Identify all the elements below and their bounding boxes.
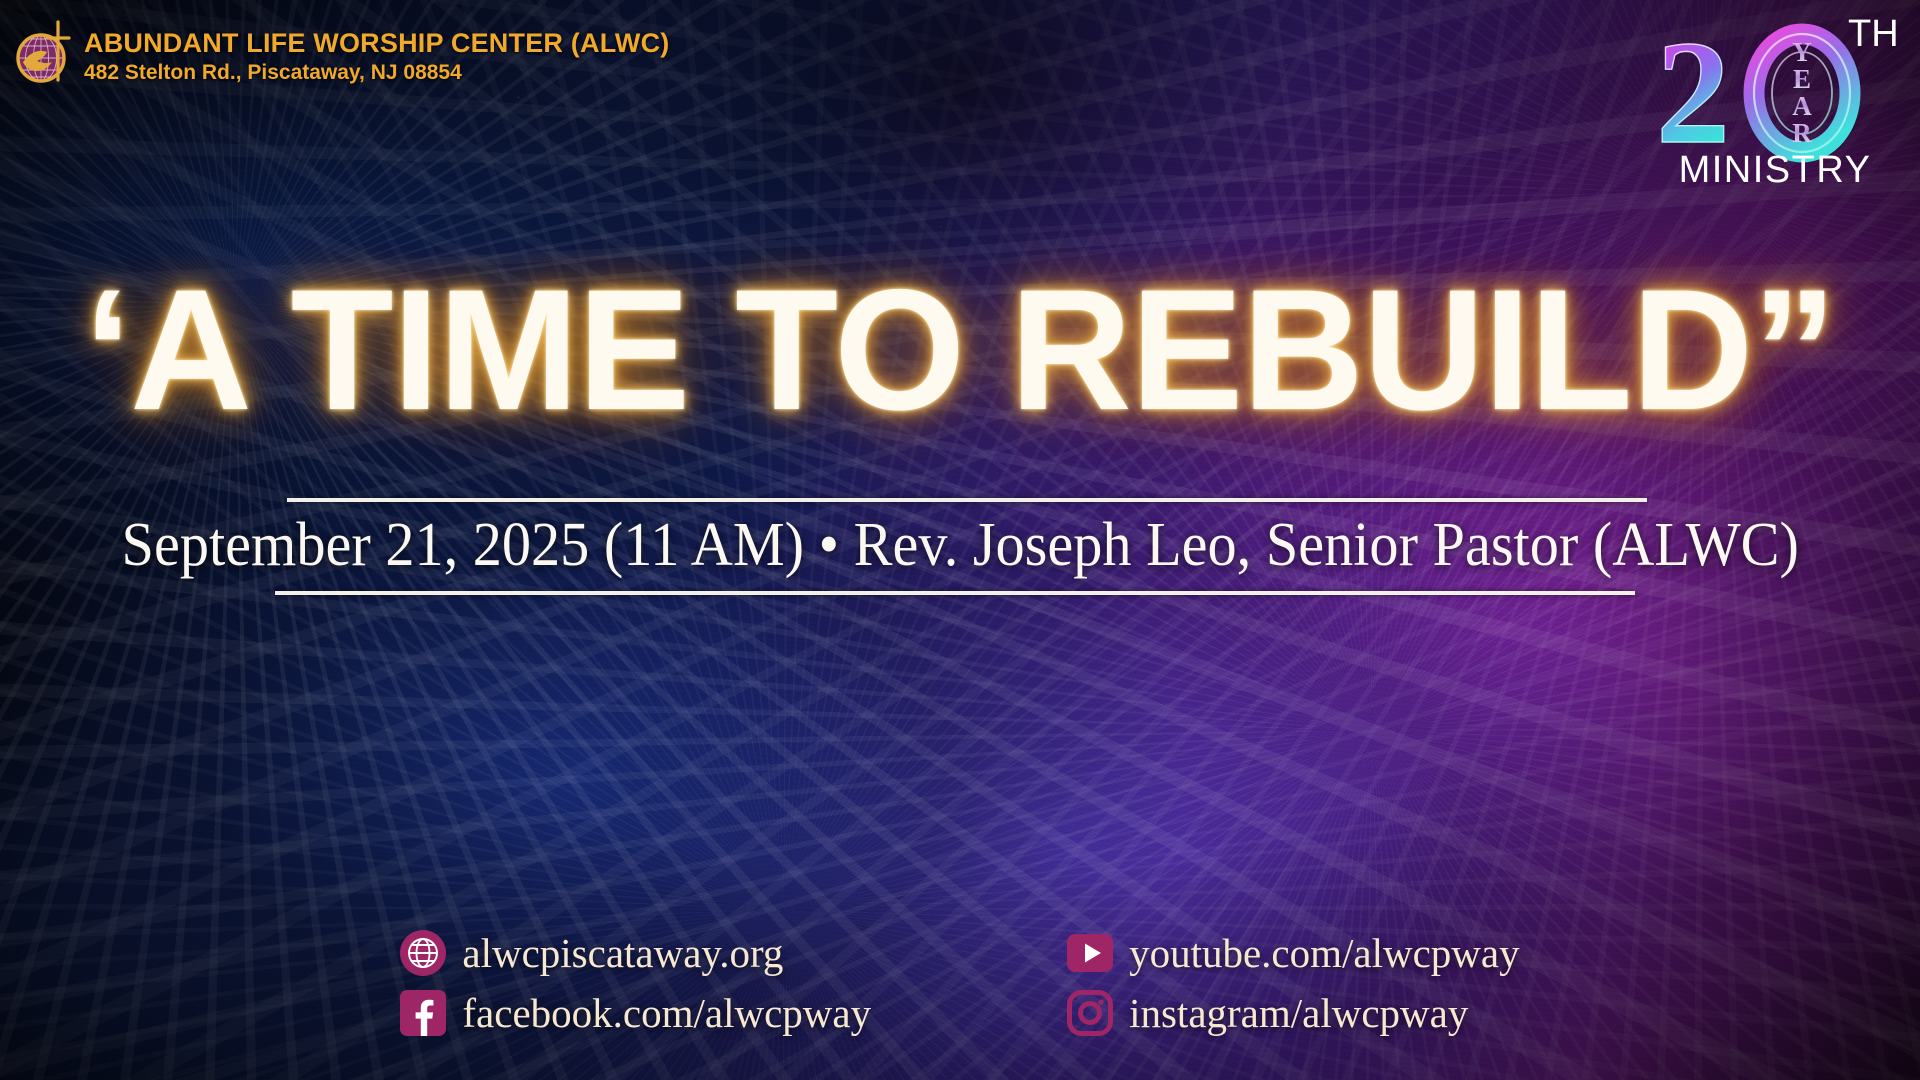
church-identity-header: ABUNDANT LIFE WORSHIP CENTER (ALWC) 482 … xyxy=(14,16,669,90)
sermon-title-block: ‘A TIME TO REBUILD” xyxy=(0,268,1920,433)
anniversary-badge-graphic: 2 Y E A R TH MINISTRY xyxy=(1650,8,1900,188)
anniversary-year-letter-a: A xyxy=(1792,91,1812,121)
contact-facebook[interactable]: facebook.com/alwcpway xyxy=(400,990,871,1036)
sermon-slide: ABUNDANT LIFE WORSHIP CENTER (ALWC) 482 … xyxy=(0,0,1920,1080)
youtube-icon xyxy=(1067,930,1113,976)
sermon-subtitle: September 21, 2025 (11 AM) • Rev. Joseph… xyxy=(121,502,1798,591)
instagram-label: instagram/alwcpway xyxy=(1129,993,1468,1034)
contact-strip: alwcpiscataway.org facebook.com/alwcpway xyxy=(0,930,1920,1036)
church-address: 482 Stelton Rd., Piscataway, NJ 08854 xyxy=(84,60,669,86)
anniversary-year-letter-e: E xyxy=(1793,64,1811,94)
contact-website[interactable]: alwcpiscataway.org xyxy=(400,930,871,976)
contact-instagram[interactable]: instagram/alwcpway xyxy=(1067,990,1520,1036)
anniversary-caption: MINISTRY xyxy=(1679,149,1872,188)
facebook-label: facebook.com/alwcpway xyxy=(462,993,871,1034)
globe-dove-cross-logo xyxy=(14,18,76,90)
subtitle-rule-bottom xyxy=(275,591,1635,595)
anniversary-ordinal: TH xyxy=(1848,13,1899,55)
globe-icon xyxy=(400,930,446,976)
facebook-icon xyxy=(400,990,446,1036)
youtube-label: youtube.com/alwcpway xyxy=(1129,933,1520,974)
anniversary-badge: 2 Y E A R TH MINISTRY xyxy=(1650,8,1900,188)
contact-column-right: youtube.com/alwcpway instagram/alwcpway xyxy=(1067,930,1520,1036)
sermon-title: ‘A TIME TO REBUILD” xyxy=(19,268,1901,433)
anniversary-year-letter-y: Y xyxy=(1792,37,1812,67)
instagram-icon xyxy=(1067,990,1113,1036)
contact-column-left: alwcpiscataway.org facebook.com/alwcpway xyxy=(400,930,871,1036)
church-header-text: ABUNDANT LIFE WORSHIP CENTER (ALWC) 482 … xyxy=(84,16,669,86)
sermon-subtitle-block: September 21, 2025 (11 AM) • Rev. Joseph… xyxy=(0,498,1920,595)
church-name: ABUNDANT LIFE WORSHIP CENTER (ALWC) xyxy=(84,30,669,57)
website-label: alwcpiscataway.org xyxy=(462,933,783,974)
anniversary-year-letter-r: R xyxy=(1792,118,1812,148)
contact-youtube[interactable]: youtube.com/alwcpway xyxy=(1067,930,1520,976)
